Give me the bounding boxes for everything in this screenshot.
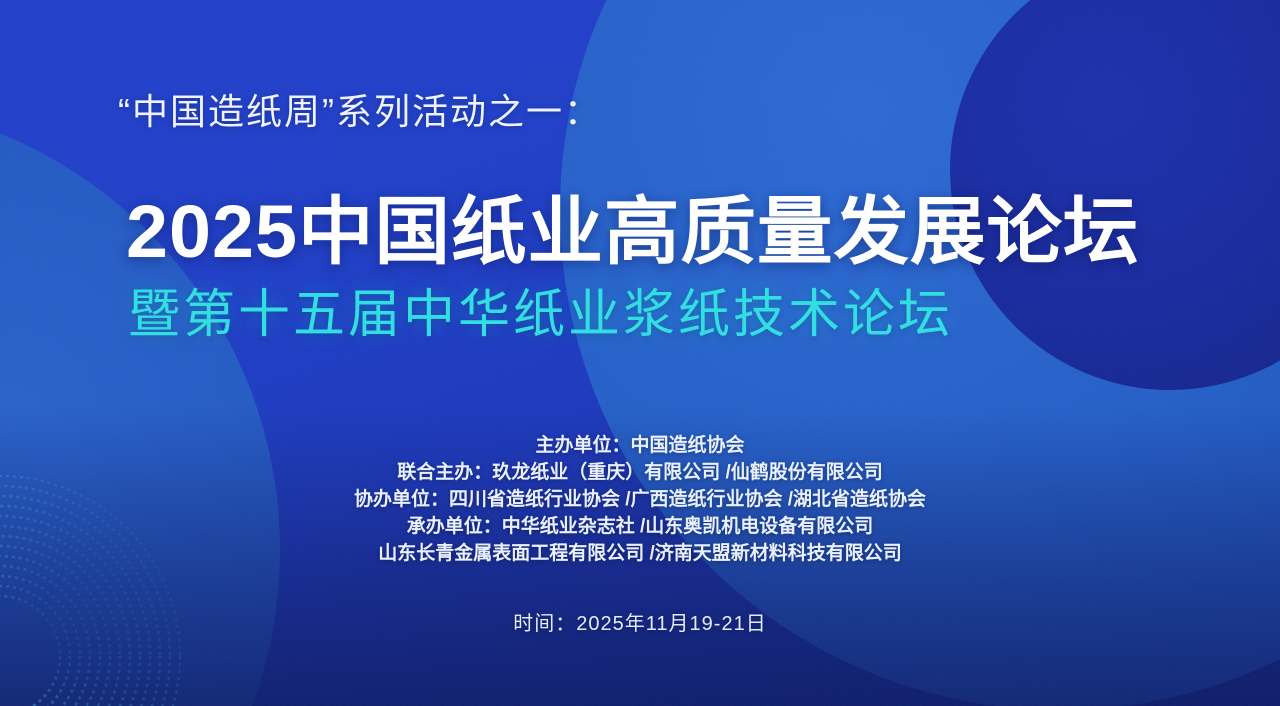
poster-main-title: 2025中国纸业高质量发展论坛	[126, 172, 1139, 279]
organizer-line-co-host: 联合主办：玖龙纸业（重庆）有限公司 /仙鹤股份有限公司	[0, 459, 1280, 486]
organizer-block: 主办单位：中国造纸协会 联合主办：玖龙纸业（重庆）有限公司 /仙鹤股份有限公司 …	[0, 432, 1280, 567]
organizer-line-host: 主办单位：中国造纸协会	[0, 432, 1280, 459]
organizer-line-supporter: 协办单位：四川省造纸行业协会 /广西造纸行业协会 /湖北省造纸协会	[0, 486, 1280, 513]
poster-kicker: “中国造纸周”系列活动之一：	[118, 83, 602, 135]
poster-canvas: “中国造纸周”系列活动之一： 2025中国纸业高质量发展论坛 暨第十五届中华纸业…	[0, 0, 1280, 706]
event-date-line: 时间：2025年11月19-21日	[0, 607, 1280, 636]
poster-content: “中国造纸周”系列活动之一： 2025中国纸业高质量发展论坛 暨第十五届中华纸业…	[0, 0, 1280, 706]
organizer-line-undertaker: 承办单位：中华纸业杂志社 /山东奥凯机电设备有限公司	[0, 513, 1280, 540]
organizer-line-undertaker-2: 山东长青金属表面工程有限公司 /济南天盟新材料科技有限公司	[0, 540, 1280, 567]
poster-sub-title: 暨第十五届中华纸业浆纸技术论坛	[128, 272, 953, 347]
